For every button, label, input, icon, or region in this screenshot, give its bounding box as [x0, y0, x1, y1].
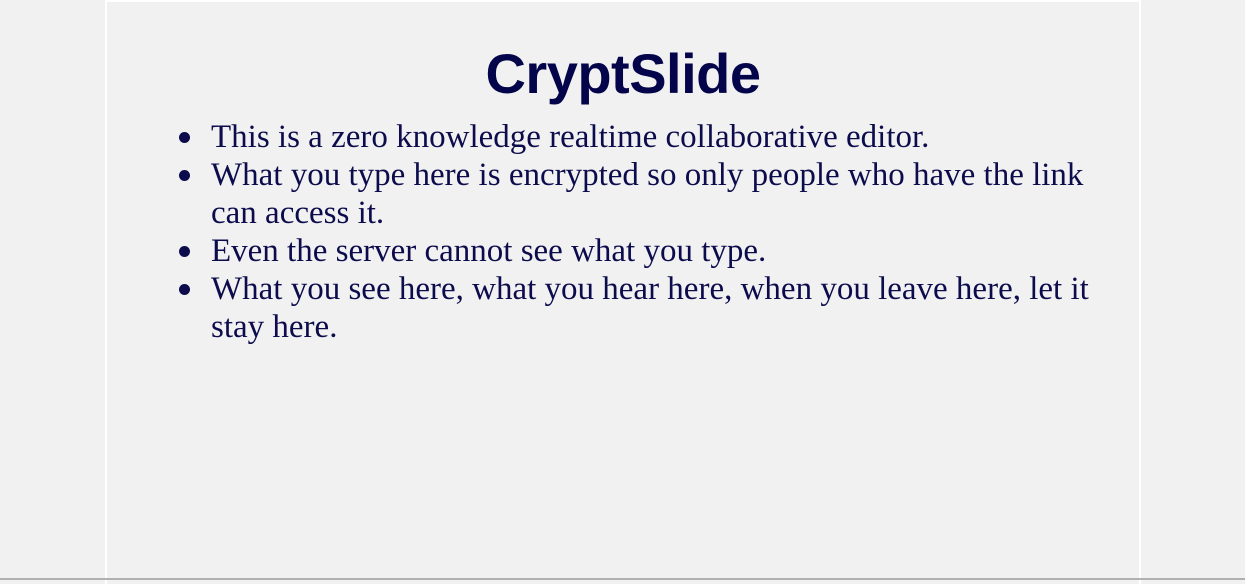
- bullet-text: This is a zero knowledge realtime collab…: [211, 118, 1089, 156]
- bullet-list: This is a zero knowledge realtime collab…: [179, 118, 1089, 346]
- slide-viewer: CryptSlide This is a zero knowledge real…: [0, 0, 1245, 584]
- slide-canvas[interactable]: CryptSlide This is a zero knowledge real…: [105, 0, 1141, 584]
- list-item[interactable]: What you see here, what you hear here, w…: [179, 270, 1089, 346]
- bullet-text: Even the server cannot see what you type…: [211, 232, 1089, 270]
- viewport-bottom-rule: [0, 578, 1245, 580]
- bullet-text: What you type here is encrypted so only …: [211, 156, 1089, 232]
- list-item[interactable]: This is a zero knowledge realtime collab…: [179, 118, 1089, 156]
- slide-title: CryptSlide: [107, 2, 1139, 102]
- bullet-dot-icon: [179, 284, 190, 295]
- bullet-dot-icon: [179, 170, 190, 181]
- list-item[interactable]: What you type here is encrypted so only …: [179, 156, 1089, 232]
- list-item[interactable]: Even the server cannot see what you type…: [179, 232, 1089, 270]
- slide-body[interactable]: This is a zero knowledge realtime collab…: [107, 118, 1139, 346]
- bullet-text: What you see here, what you hear here, w…: [211, 270, 1089, 346]
- left-gutter: [0, 0, 105, 584]
- bullet-dot-icon: [179, 132, 190, 143]
- bullet-dot-icon: [179, 246, 190, 257]
- right-gutter: [1141, 0, 1245, 584]
